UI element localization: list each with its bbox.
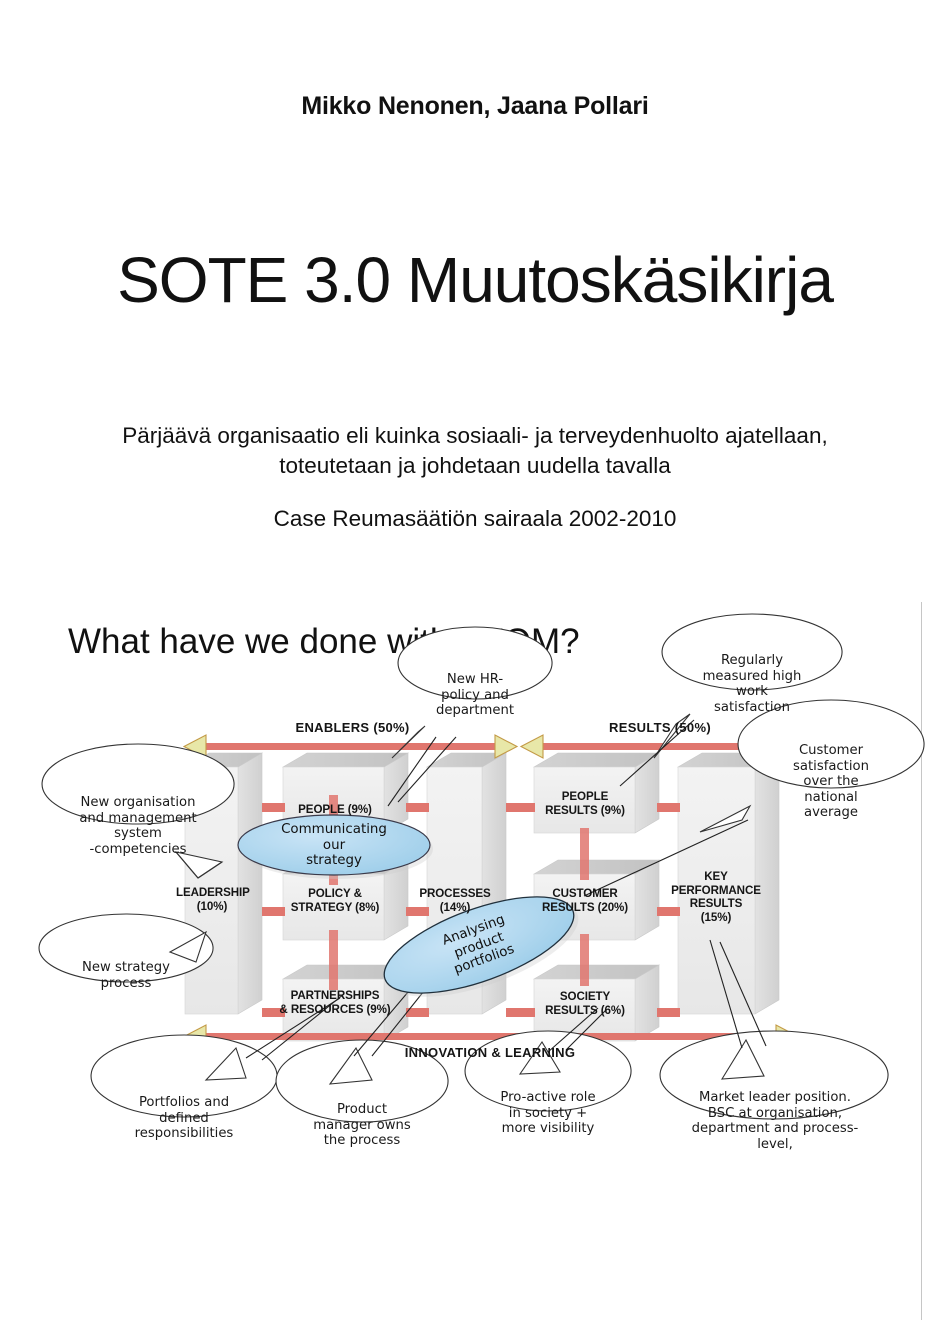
- label-customer-results-line-1: CUSTOMER: [531, 887, 639, 901]
- label-policy-strategy: POLICY & STRATEGY (8%): [280, 887, 390, 914]
- callout-new-org-line-3: system: [52, 826, 224, 842]
- callout-market-leader: Market leader position. BSC at organisat…: [668, 1090, 882, 1152]
- ellipse-communicating-line-1: Communicating: [254, 822, 414, 838]
- label-kpr-line-3: RESULTS: [668, 897, 764, 911]
- cover-title: SOTE 3.0 Muutoskäsikirja: [0, 243, 950, 317]
- label-kpr-line-1: KEY: [668, 870, 764, 884]
- callout-hr-line-1: New HR-: [405, 672, 545, 688]
- band-label-innovation-learning: INNOVATION & LEARNING: [300, 1045, 680, 1060]
- label-policy-line-2: STRATEGY (8%): [280, 901, 390, 915]
- label-people: PEOPLE (9%): [285, 803, 385, 817]
- callout-market-line-1: Market leader position.: [668, 1090, 882, 1106]
- callout-work-satisfaction: Regularly measured high work satisfactio…: [672, 653, 832, 715]
- cover-subtitle: Pärjäävä organisaatio eli kuinka sosiaal…: [95, 421, 855, 481]
- ellipse-communicating-line-2: our: [254, 838, 414, 854]
- callout-prod-mgr-line-2: manager owns: [288, 1118, 436, 1134]
- label-processes-line-1: PROCESSES: [418, 887, 492, 901]
- label-people-results: PEOPLE RESULTS (9%): [535, 790, 635, 817]
- label-society-results: SOCIETY RESULTS (6%): [533, 990, 637, 1017]
- cover-case-label: Case Reumasäätiön sairaala 2002-2010: [95, 506, 855, 532]
- callout-new-strategy-line-1: New strategy: [48, 960, 204, 976]
- callout-cust-sat-line-5: average: [757, 805, 905, 821]
- callout-prod-mgr-line-1: Product: [288, 1102, 436, 1118]
- callout-portfolios-line-2: defined: [104, 1111, 264, 1127]
- cover-subtitle-line-2: toteutetaan ja johdetaan uudella tavalla: [95, 451, 855, 481]
- callout-work-sat-line-1: Regularly: [672, 653, 832, 669]
- cover-authors: Mikko Nenonen, Jaana Pollari: [0, 92, 950, 121]
- callout-cust-sat-line-1: Customer: [757, 743, 905, 759]
- callout-new-org-line-4: -competencies: [52, 842, 224, 858]
- callout-proactive-line-3: more visibility: [476, 1121, 620, 1137]
- callout-market-line-4: level,: [668, 1137, 882, 1153]
- callout-market-line-2: BSC at organisation,: [668, 1106, 882, 1122]
- callout-new-org-line-2: and management: [52, 811, 224, 827]
- label-customer-results: CUSTOMER RESULTS (20%): [531, 887, 639, 914]
- label-leadership-line-2: (10%): [176, 900, 248, 914]
- label-customer-results-line-2: RESULTS (20%): [531, 901, 639, 915]
- callout-new-organisation: New organisation and management system -…: [52, 795, 224, 857]
- label-kpr-line-2: PERFORMANCE: [668, 884, 764, 898]
- cover-subtitle-line-1: Pärjäävä organisaatio eli kuinka sosiaal…: [95, 421, 855, 451]
- callout-new-org-line-1: New organisation: [52, 795, 224, 811]
- callout-pro-active-society: Pro-active role in society + more visibi…: [476, 1090, 620, 1137]
- callout-proactive-line-2: in society +: [476, 1106, 620, 1122]
- label-society-results-line-1: SOCIETY: [533, 990, 637, 1004]
- callout-hr-line-2: policy and: [405, 688, 545, 704]
- callout-new-hr-policy: New HR- policy and department: [405, 672, 545, 719]
- ellipse-label-communicating-strategy: Communicating our strategy: [254, 822, 414, 869]
- label-key-performance-results: KEY PERFORMANCE RESULTS (15%): [668, 870, 764, 924]
- callout-cust-sat-line-3: over the: [757, 774, 905, 790]
- label-society-results-line-2: RESULTS (6%): [533, 1004, 637, 1018]
- label-leadership: LEADERSHIP (10%): [176, 886, 248, 913]
- callout-hr-line-3: department: [405, 703, 545, 719]
- band-label-enablers: ENABLERS (50%): [205, 720, 500, 735]
- label-policy-line-1: POLICY &: [280, 887, 390, 901]
- callout-portfolios-line-1: Portfolios and: [104, 1095, 264, 1111]
- label-partnerships-resources: PARTNERSHIPS & RESOURCES (9%): [276, 989, 394, 1016]
- callout-proactive-line-1: Pro-active role: [476, 1090, 620, 1106]
- callout-work-sat-line-3: work: [672, 684, 832, 700]
- callout-cust-sat-line-2: satisfaction: [757, 759, 905, 775]
- book-cover-page: Mikko Nenonen, Jaana Pollari SOTE 3.0 Mu…: [0, 0, 950, 1344]
- label-partnerships-line-2: & RESOURCES (9%): [276, 1003, 394, 1017]
- callout-customer-satisfaction: Customer satisfaction over the national …: [757, 743, 905, 821]
- callout-product-manager: Product manager owns the process: [288, 1102, 436, 1149]
- callout-work-sat-line-2: measured high: [672, 669, 832, 685]
- label-people-line-1: PEOPLE (9%): [285, 803, 385, 817]
- callout-market-line-3: department and process-: [668, 1121, 882, 1137]
- ellipse-communicating-line-3: strategy: [254, 853, 414, 869]
- callout-portfolios-line-3: responsibilities: [104, 1126, 264, 1142]
- label-processes: PROCESSES (14%): [418, 887, 492, 914]
- callout-new-strategy-line-2: process: [48, 976, 204, 992]
- callout-portfolios-responsibilities: Portfolios and defined responsibilities: [104, 1095, 264, 1142]
- label-people-results-line-1: PEOPLE: [535, 790, 635, 804]
- callout-new-strategy-process: New strategy process: [48, 960, 204, 991]
- label-leadership-line-1: LEADERSHIP: [176, 886, 248, 900]
- label-partnerships-line-1: PARTNERSHIPS: [276, 989, 394, 1003]
- label-people-results-line-2: RESULTS (9%): [535, 804, 635, 818]
- callout-work-sat-line-4: satisfaction: [672, 700, 832, 716]
- callout-cust-sat-line-4: national: [757, 790, 905, 806]
- label-processes-line-2: (14%): [418, 901, 492, 915]
- callout-prod-mgr-line-3: the process: [288, 1133, 436, 1149]
- band-label-results: RESULTS (50%): [540, 720, 780, 735]
- label-kpr-line-4: (15%): [668, 911, 764, 925]
- efqm-slide: What have we done with EFQM?: [0, 590, 950, 1210]
